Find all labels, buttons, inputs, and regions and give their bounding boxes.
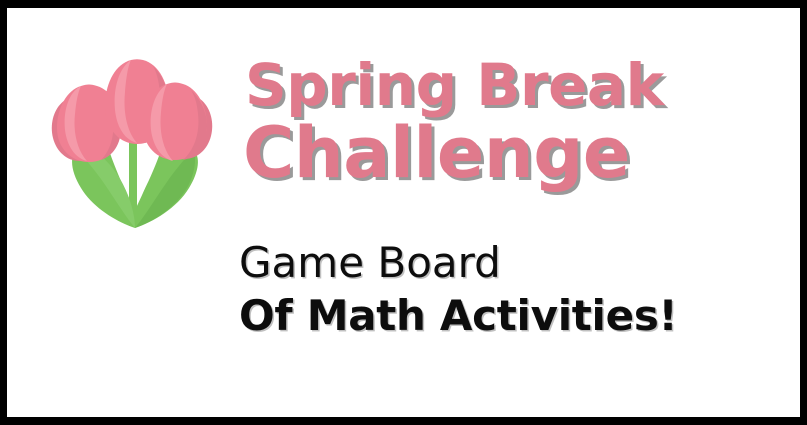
tulip-flower-right: [143, 83, 212, 162]
poster-subtitle: Game Board Of Math Activities!: [239, 240, 779, 339]
headline-line-2: Challenge: [243, 118, 773, 188]
subtitle-line-1: Game Board: [239, 240, 779, 285]
tulip-bouquet-illustration: [25, 46, 240, 246]
subtitle-line-2: Of Math Activities!: [239, 293, 779, 338]
headline-line-1: Spring Break: [245, 56, 773, 114]
poster-canvas: Spring Break Challenge Game Board Of Mat…: [7, 8, 800, 417]
poster-card: Spring Break Challenge Game Board Of Mat…: [0, 0, 807, 425]
poster-headline: Spring Break Challenge: [243, 56, 773, 188]
